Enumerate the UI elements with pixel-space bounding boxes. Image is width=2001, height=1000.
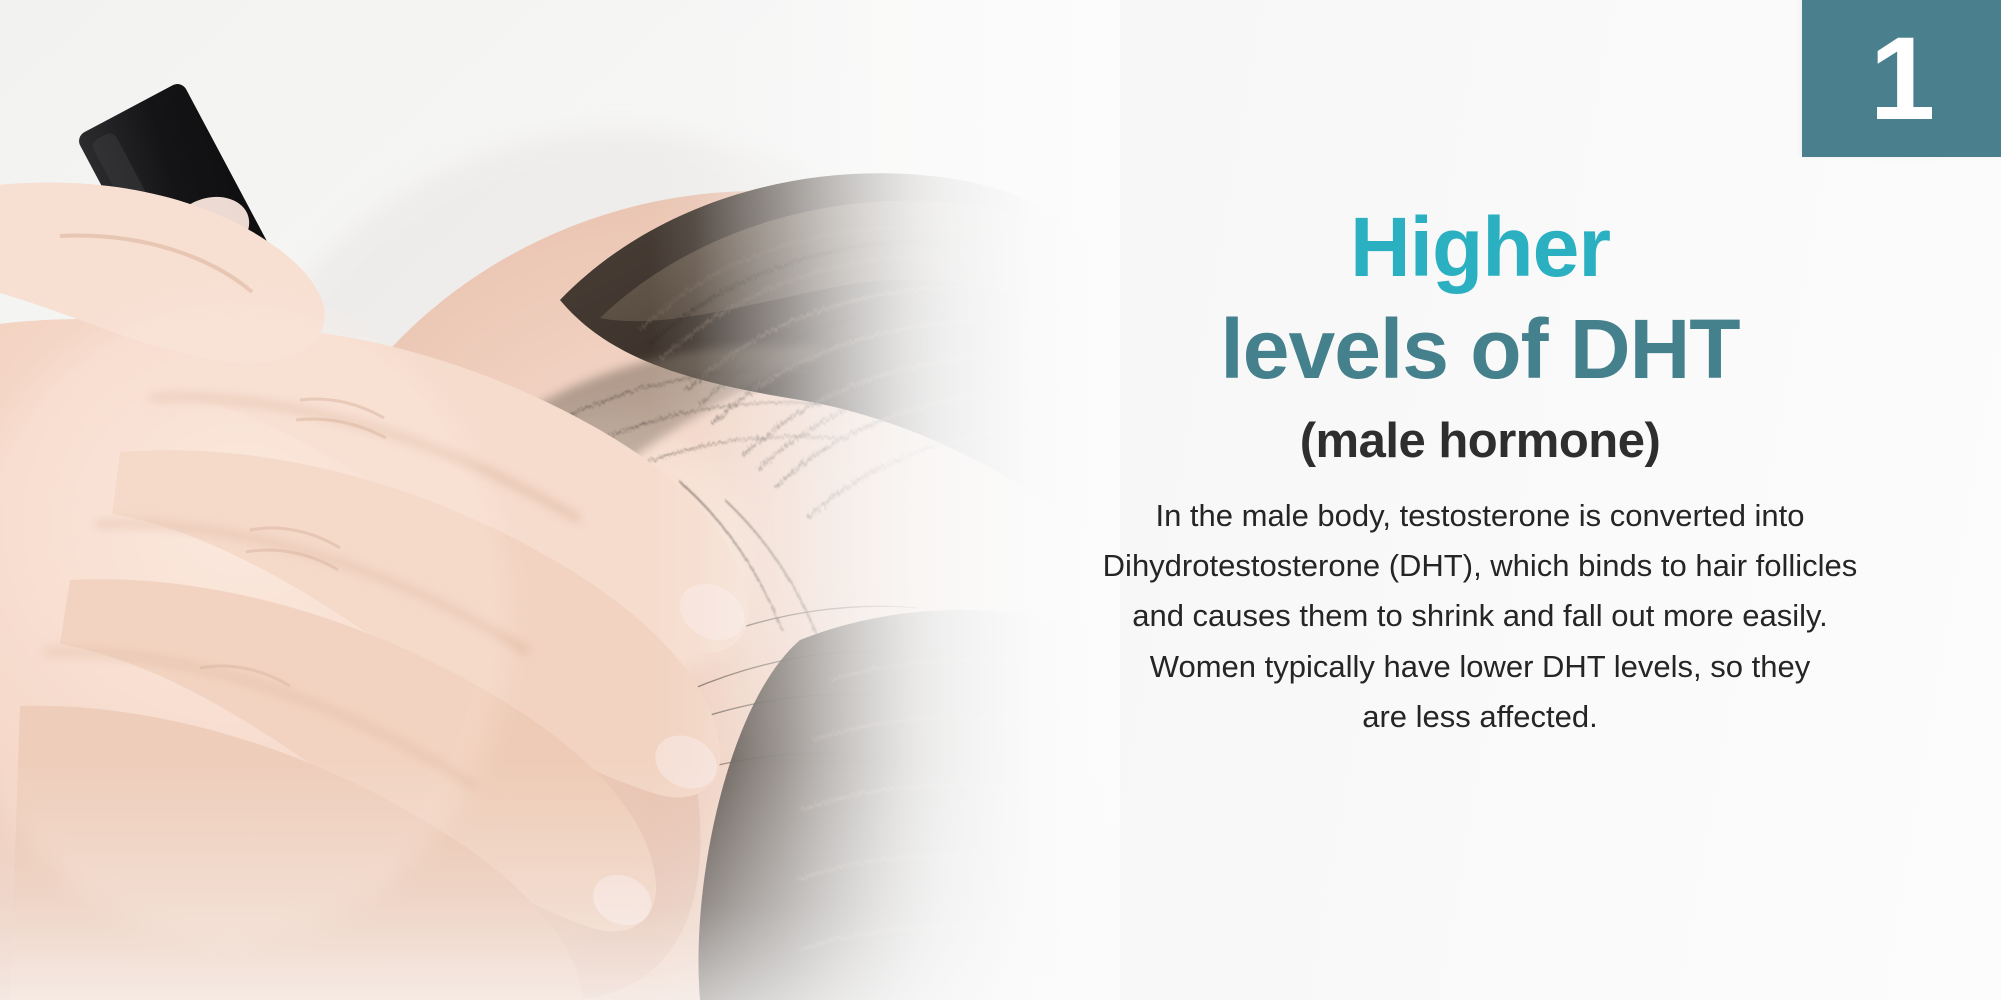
headline-subtitle: (male hormone) [1035,415,1925,469]
hair-loss-photo [0,0,1120,1000]
text-column: Higher levels of DHT (male hormone) In t… [1035,205,1925,742]
step-number-badge: 1 [1802,0,2001,157]
body-line: and causes them to shrink and fall out m… [1035,591,1925,641]
slide-root: 1 Higher levels of DHT (male hormone) In… [0,0,2001,1000]
headline-line-1: Higher [1035,205,1925,289]
headline-line-2: levels of DHT [1035,307,1925,391]
body-line: are less affected. [1035,692,1925,742]
body-paragraph: In the male body, testosterone is conver… [1035,491,1925,742]
step-number-value: 1 [1870,20,1934,138]
body-line: In the male body, testosterone is conver… [1035,491,1925,541]
body-line: Dihydrotestosterone (DHT), which binds t… [1035,541,1925,591]
body-line: Women typically have lower DHT levels, s… [1035,642,1925,692]
